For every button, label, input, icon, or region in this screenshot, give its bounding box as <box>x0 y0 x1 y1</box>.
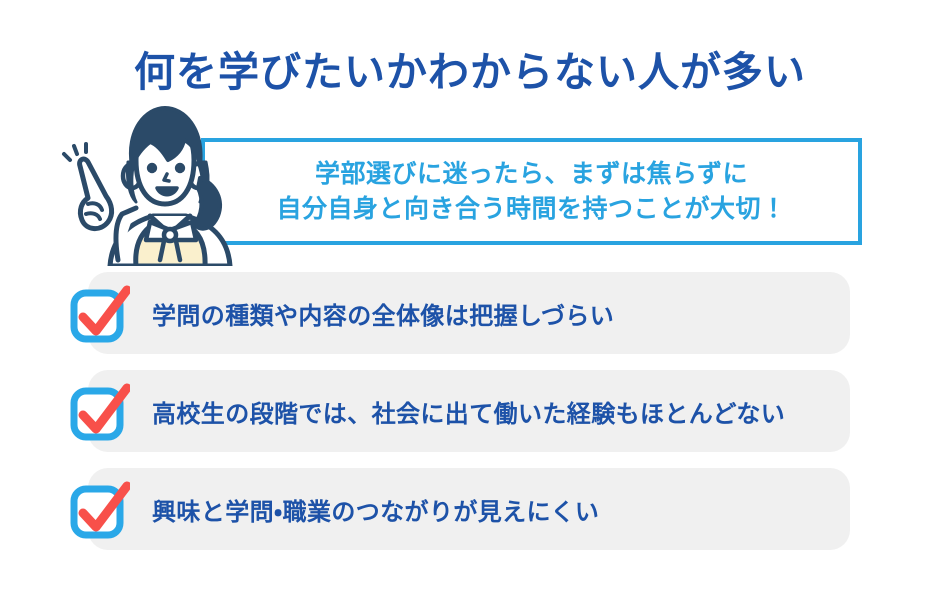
issues-checklist: 学問の種類や内容の全体像は把握しづらい 高校生の段階では、社会に出て働いた経験も… <box>0 272 940 566</box>
checklist-row[interactable]: 高校生の段階では、社会に出て働いた経験もほとんどない <box>0 370 940 452</box>
infographic-canvas: 何を学びたいかわからない人が多い 学部選びに迷ったら、まずは焦らずに 自分自身と… <box>0 0 940 610</box>
advice-callout-box: 学部選びに迷ったら、まずは焦らずに 自分自身と向き合う時間を持つことが大切！ <box>201 138 862 245</box>
advice-callout-line-1: 学部選びに迷ったら、まずは焦らずに <box>315 158 748 191</box>
checklist-item-label: 学問の種類や内容の全体像は把握しづらい <box>152 272 614 354</box>
checklist-row[interactable]: 学問の種類や内容の全体像は把握しづらい <box>0 272 940 354</box>
checklist-row[interactable]: 興味と学問・職業のつながりが見えにくい <box>0 468 940 550</box>
checkbox-checked-icon[interactable] <box>70 285 130 345</box>
page-title: 何を学びたいかわからない人が多い <box>0 50 940 95</box>
checklist-item-label: 興味と学問・職業のつながりが見えにくい <box>152 468 599 550</box>
advice-callout-line-2: 自分自身と向き合う時間を持つことが大切！ <box>276 193 786 226</box>
checklist-item-label: 高校生の段階では、社会に出て働いた経験もほとんどない <box>152 370 785 452</box>
checkbox-checked-icon[interactable] <box>70 383 130 443</box>
pointing-student-girl-illustration <box>58 104 248 266</box>
advice-callout-text: 学部選びに迷ったら、まずは焦らずに 自分自身と向き合う時間を持つことが大切！ <box>205 142 858 241</box>
checkbox-checked-icon[interactable] <box>70 481 130 541</box>
